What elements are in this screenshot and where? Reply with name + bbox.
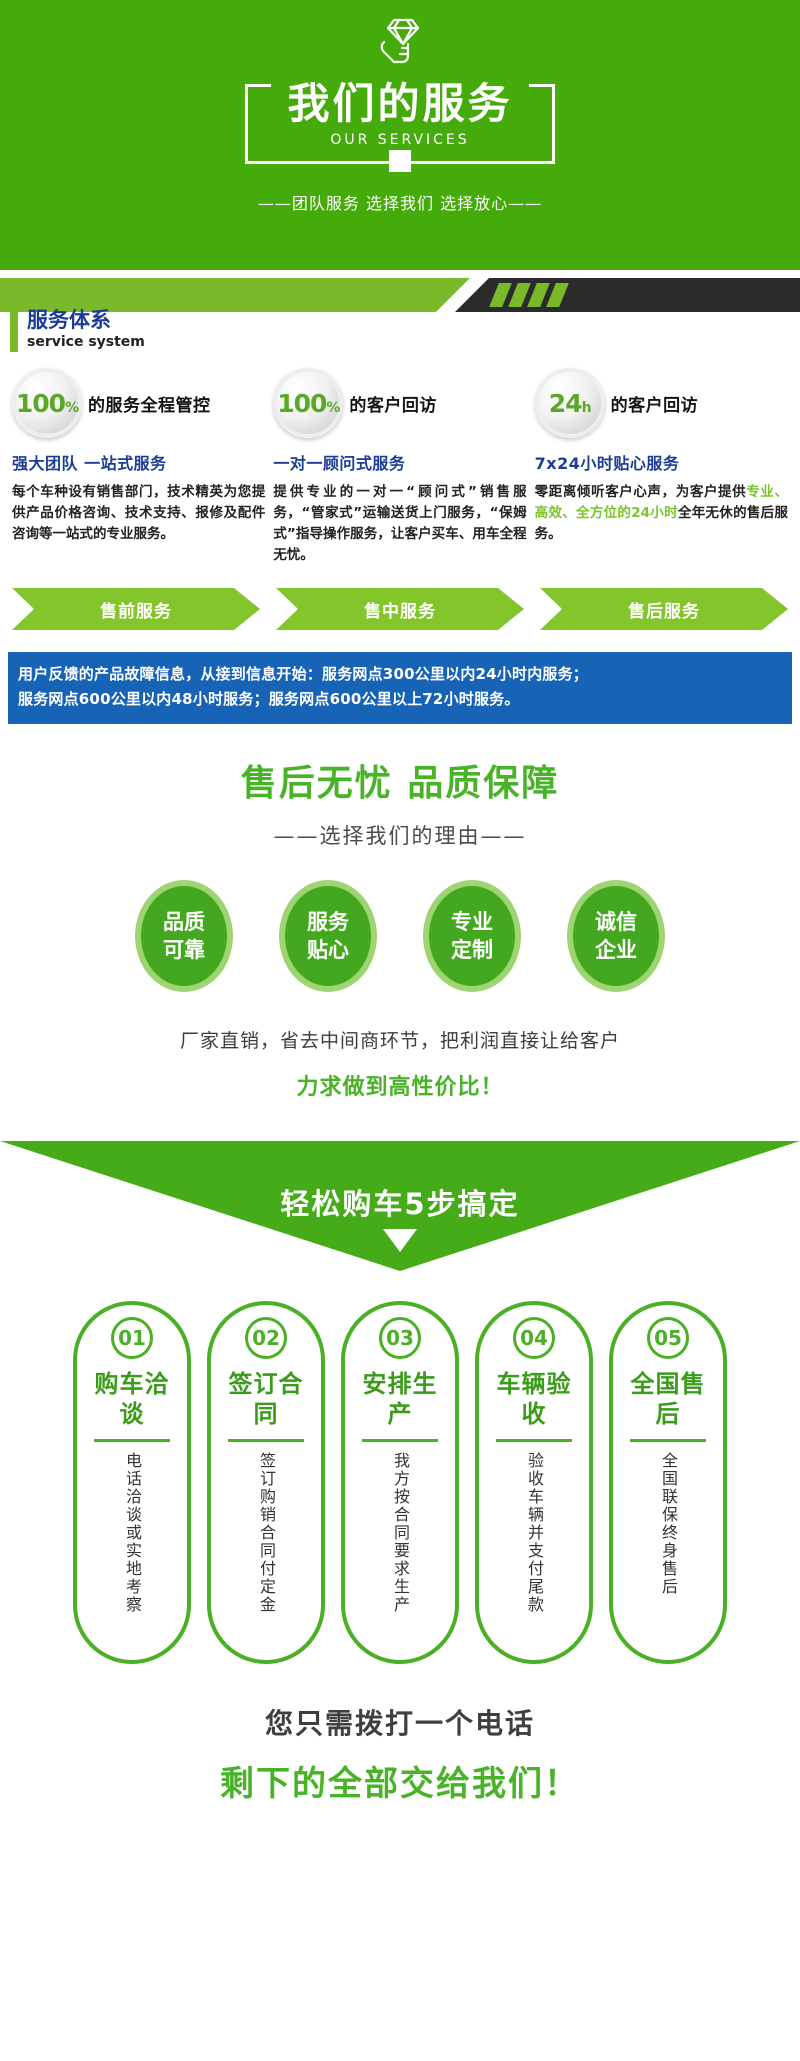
reason-circle-service: 服务 贴心 xyxy=(279,880,377,992)
feature-3-title: 7x24小时贴心服务 xyxy=(535,450,788,474)
step-4-title: 车辆验收 xyxy=(485,1369,583,1429)
step-4-number: 04 xyxy=(513,1317,555,1359)
reason-circles-row: 品质 可靠 服务 贴心 专业 定制 诚信 企业 xyxy=(0,880,800,992)
feature-1-title: 强大团队 一站式服务 xyxy=(12,450,265,474)
feature-1-badge-number: 100% xyxy=(16,391,78,416)
step-2-divider xyxy=(228,1439,304,1442)
reason-3-line2: 定制 xyxy=(451,936,493,964)
hero-tagline: ——团队服务 选择我们 选择放心—— xyxy=(258,190,542,214)
badge-24h-icon: 24h xyxy=(535,368,605,438)
steps-banner: 轻松购车5步搞定 xyxy=(0,1141,800,1291)
label-accent-bar xyxy=(10,310,18,352)
feature-1-badge-suffix: % xyxy=(65,400,78,416)
after-sales-title: 售后无忧 品质保障 xyxy=(0,754,800,806)
footer-line-1: 您只需拨打一个电话 xyxy=(0,1702,800,1742)
after-sales-subtitle: ——选择我们的理由—— xyxy=(0,820,800,850)
feature-column-1: 100% 的服务全程管控 强大团队 一站式服务 每个车种设有销售部门，技术精英为… xyxy=(12,366,265,566)
reason-4-line2: 企业 xyxy=(595,936,637,964)
step-5-description: 全国联保终身售后 xyxy=(656,1452,680,1642)
price-statement-line-1: 厂家直销，省去中间商环节，把利润直接让给客户 xyxy=(0,1026,800,1053)
feature-1-body: 每个车种设有销售部门，技术精英为您提供产品价格咨询、技术支持、报修及配件咨询等一… xyxy=(12,482,265,545)
step-3-divider xyxy=(362,1439,438,1442)
step-4-divider xyxy=(496,1439,572,1442)
step-card-4[interactable]: 04 车辆验收 验收车辆并支付尾款 xyxy=(475,1301,593,1664)
feature-3-body: 零距离倾听客户心声，为客户提供专业、高效、全方位的24小时全年无休的售后服务。 xyxy=(535,482,788,545)
price-statement-line-2: 力求做到高性价比！ xyxy=(0,1069,800,1101)
step-2-description: 签订购销合同付定金 xyxy=(254,1452,278,1642)
reason-3-line1: 专业 xyxy=(451,908,493,936)
service-response-banner: 用户反馈的产品故障信息，从接到信息开始：服务网点300公里以内24小时内服务； … xyxy=(8,652,792,724)
steps-banner-label: 轻松购车5步搞定 xyxy=(0,1181,800,1223)
hero-corner-top-right xyxy=(529,84,555,110)
stage-arrow-during-sale[interactable]: 售中服务 xyxy=(276,588,524,630)
badge-100-percent-icon: 100% xyxy=(273,368,343,438)
purchase-steps-row: 01 购车洽谈 电话洽谈或实地考察 02 签订合同 签订购销合同付定金 03 安… xyxy=(0,1301,800,1664)
stage-arrow-after-sale[interactable]: 售后服务 xyxy=(540,588,788,630)
step-1-divider xyxy=(94,1439,170,1442)
badge-100-percent-icon: 100% xyxy=(12,368,82,438)
service-system-label: 服务体系 service system xyxy=(10,308,145,352)
feature-1-badge-caption: 的服务全程管控 xyxy=(88,391,211,416)
step-2-title: 签订合同 xyxy=(217,1369,315,1429)
feature-2-body: 提供专业的一对一“顾问式”销售服务，“管家式”运输送货上门服务，“保姆式”指导操… xyxy=(273,482,526,566)
step-4-description: 验收车辆并支付尾款 xyxy=(522,1452,546,1642)
service-system-banner: 服务体系 service system xyxy=(0,278,800,344)
stage-arrow-pre-sale[interactable]: 售前服务 xyxy=(12,588,260,630)
service-stage-arrows: 售前服务 售中服务 售后服务 xyxy=(0,566,800,630)
step-5-number: 05 xyxy=(647,1317,689,1359)
banner-green-shape xyxy=(0,278,470,312)
features-row: 100% 的服务全程管控 强大团队 一站式服务 每个车种设有销售部门，技术精英为… xyxy=(0,344,800,566)
footer-line-2: 剩下的全部交给我们！ xyxy=(0,1756,800,1805)
feature-3-badge-suffix: h xyxy=(582,400,591,416)
diamond-hand-icon xyxy=(368,14,432,78)
reason-circle-integrity: 诚信 企业 xyxy=(567,880,665,992)
feature-3-badge-number: 24h xyxy=(549,391,591,416)
reason-circle-quality: 品质 可靠 xyxy=(135,880,233,992)
step-3-description: 我方按合同要求生产 xyxy=(388,1452,412,1642)
step-card-2[interactable]: 02 签订合同 签订购销合同付定金 xyxy=(207,1301,325,1664)
service-system-title-cn: 服务体系 xyxy=(27,308,145,332)
response-banner-line-2: 服务网点600公里以内48小时服务；服务网点600公里以上72小时服务。 xyxy=(18,687,782,712)
feature-2-badge-caption: 的客户回访 xyxy=(349,391,437,416)
step-2-number: 02 xyxy=(245,1317,287,1359)
step-1-description: 电话洽谈或实地考察 xyxy=(120,1452,144,1642)
step-3-number: 03 xyxy=(379,1317,421,1359)
reason-2-line2: 贴心 xyxy=(307,936,349,964)
step-1-title: 购车洽谈 xyxy=(83,1369,181,1429)
reason-4-line1: 诚信 xyxy=(595,908,637,936)
hero-title: 我们的服务 xyxy=(287,78,512,130)
step-card-1[interactable]: 01 购车洽谈 电话洽谈或实地考察 xyxy=(73,1301,191,1664)
service-system-title-en: service system xyxy=(27,333,145,351)
step-5-title: 全国售后 xyxy=(619,1369,717,1429)
step-5-divider xyxy=(630,1439,706,1442)
step-card-3[interactable]: 03 安排生产 我方按合同要求生产 xyxy=(341,1301,459,1664)
hero-corner-top-left xyxy=(245,84,271,110)
feature-2-title: 一对一顾问式服务 xyxy=(273,450,526,474)
feature-3-badge-main: 24 xyxy=(549,389,582,418)
hero-subtitle-en: OUR SERVICES xyxy=(330,132,469,148)
feature-3-head: 24h 的客户回访 xyxy=(535,366,788,440)
hero-title-box: 我们的服务 OUR SERVICES xyxy=(245,84,555,164)
response-banner-line-1: 用户反馈的产品故障信息，从接到信息开始：服务网点300公里以内24小时内服务； xyxy=(18,662,782,687)
feature-column-2: 100% 的客户回访 一对一顾问式服务 提供专业的一对一“顾问式”销售服务，“管… xyxy=(273,366,526,566)
feature-2-badge-main: 100 xyxy=(277,389,326,418)
step-1-number: 01 xyxy=(111,1317,153,1359)
feature-2-head: 100% 的客户回访 xyxy=(273,366,526,440)
reason-1-line1: 品质 xyxy=(163,908,205,936)
step-card-5[interactable]: 05 全国售后 全国联保终身售后 xyxy=(609,1301,727,1664)
feature-3-badge-caption: 的客户回访 xyxy=(611,391,699,416)
step-3-title: 安排生产 xyxy=(351,1369,449,1429)
feature-1-head: 100% 的服务全程管控 xyxy=(12,366,265,440)
feature-column-3: 24h 的客户回访 7x24小时贴心服务 零距离倾听客户心声，为客户提供专业、高… xyxy=(535,366,788,566)
feature-1-badge-main: 100 xyxy=(16,389,65,418)
triangle-down-icon xyxy=(383,1229,417,1252)
reason-2-line1: 服务 xyxy=(307,908,349,936)
reason-circle-custom: 专业 定制 xyxy=(423,880,521,992)
feature-3-body-pre: 零距离倾听客户心声，为客户提供 xyxy=(535,484,747,500)
feature-2-badge-suffix: % xyxy=(326,400,339,416)
feature-2-badge-number: 100% xyxy=(277,391,339,416)
reason-1-line2: 可靠 xyxy=(163,936,205,964)
hero-section: 我们的服务 OUR SERVICES ——团队服务 选择我们 选择放心—— xyxy=(0,0,800,270)
